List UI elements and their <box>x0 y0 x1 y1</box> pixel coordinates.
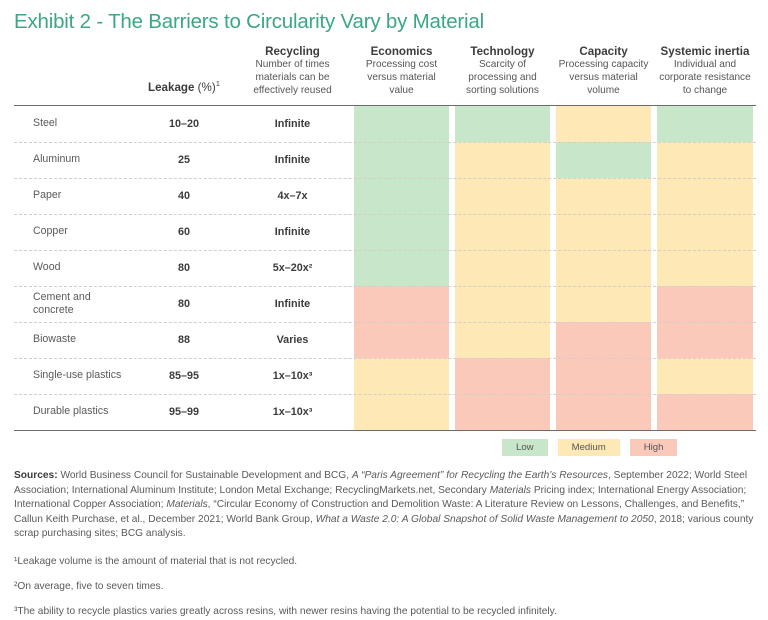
table-row: Steel10–20Infinite <box>14 106 756 142</box>
header-material <box>14 98 134 105</box>
cell-heat-inertia <box>654 286 756 322</box>
cell-leakage: 60 <box>134 214 234 250</box>
exhibit-table: Leakage (%)1 Recycling Number of times m… <box>14 45 756 457</box>
cell-heat-capacity <box>553 358 654 394</box>
cell-heat-capacity <box>553 250 654 286</box>
source-title: What a Waste 2.0: A Global Snapshot of S… <box>316 514 654 525</box>
header-systemic-inertia: Systemic inertia Individual and corporat… <box>654 45 756 105</box>
header-technology-title: Technology <box>456 45 549 59</box>
cell-heat-capacity <box>553 322 654 358</box>
cell-leakage: 80 <box>134 286 234 322</box>
table-row: Biowaste88Varies <box>14 322 756 358</box>
cell-material: Biowaste <box>14 322 134 358</box>
cell-leakage: 88 <box>134 322 234 358</box>
cell-recycling: Infinite <box>234 106 351 142</box>
cell-heat-technology <box>452 322 553 358</box>
header-leakage-label: Leakage (%)1 <box>148 81 220 94</box>
cell-heat-technology <box>452 358 553 394</box>
cell-recycling: Infinite <box>234 286 351 322</box>
cell-heat-economics <box>351 250 452 286</box>
cell-heat-technology <box>452 286 553 322</box>
cell-material: Steel <box>14 106 134 142</box>
header-technology-subtitle: Scarcity of processing and sorting solut… <box>456 59 549 97</box>
cell-leakage: 85–95 <box>134 358 234 394</box>
table-row: Wood805x–20x² <box>14 250 756 286</box>
cell-heat-economics <box>351 394 452 430</box>
sources-block: Sources: World Business Council for Sust… <box>14 469 762 541</box>
cell-heat-inertia <box>654 250 756 286</box>
cell-leakage: 95–99 <box>134 394 234 430</box>
header-economics: Economics Processing cost versus materia… <box>351 45 452 105</box>
cell-heat-economics <box>351 106 452 142</box>
page-title: Exhibit 2 - The Barriers to Circularity … <box>12 0 756 35</box>
cell-heat-inertia <box>654 394 756 430</box>
exhibit-page: Exhibit 2 - The Barriers to Circularity … <box>0 0 768 605</box>
cell-heat-capacity <box>553 106 654 142</box>
cell-recycling: Infinite <box>234 214 351 250</box>
sources-text: World Business Council for Sustainable D… <box>14 470 753 539</box>
cell-heat-economics <box>351 286 452 322</box>
cell-heat-inertia <box>654 106 756 142</box>
table-row: Paper404x–7x <box>14 178 756 214</box>
footnote: ²On average, five to seven times. <box>14 580 756 594</box>
header-systemic-inertia-title: Systemic inertia <box>658 45 752 59</box>
cell-heat-capacity <box>553 214 654 250</box>
cell-leakage: 40 <box>134 178 234 214</box>
table-row: Cement and concrete80Infinite <box>14 286 756 322</box>
header-capacity-subtitle: Processing capacity versus material volu… <box>557 59 650 97</box>
cell-material: Cement and concrete <box>14 286 134 322</box>
cell-heat-economics <box>351 142 452 178</box>
sources-label: Sources: <box>14 470 58 481</box>
cell-heat-inertia <box>654 322 756 358</box>
table-row: Durable plastics95–991x–10x³ <box>14 394 756 430</box>
cell-heat-technology <box>452 250 553 286</box>
cell-recycling: 1x–10x³ <box>234 358 351 394</box>
cell-heat-inertia <box>654 178 756 214</box>
cell-heat-economics <box>351 214 452 250</box>
legend-item-high: High <box>630 439 678 457</box>
table-row: Single-use plastics85–951x–10x³ <box>14 358 756 394</box>
cell-recycling: 4x–7x <box>234 178 351 214</box>
cell-recycling: Infinite <box>234 142 351 178</box>
header-recycling-subtitle: Number of times materials can be effecti… <box>238 59 347 97</box>
table-body: Steel10–20InfiniteAluminum25InfinitePape… <box>14 106 756 430</box>
cell-heat-inertia <box>654 358 756 394</box>
cell-heat-capacity <box>553 286 654 322</box>
cell-heat-economics <box>351 358 452 394</box>
source-title: A “Paris Agreement” for Recycling the Ea… <box>352 470 608 481</box>
cell-heat-technology <box>452 394 553 430</box>
header-capacity: Capacity Processing capacity versus mate… <box>553 45 654 105</box>
cell-heat-technology <box>452 106 553 142</box>
footnotes-block: ¹Leakage volume is the amount of materia… <box>14 555 756 620</box>
table-bottom-rule <box>14 430 756 431</box>
cell-heat-economics <box>351 178 452 214</box>
header-recycling-title: Recycling <box>238 45 347 59</box>
footnote: ³The ability to recycle plastics varies … <box>14 605 756 619</box>
header-capacity-title: Capacity <box>557 45 650 59</box>
cell-heat-capacity <box>553 394 654 430</box>
footnote: ¹Leakage volume is the amount of materia… <box>14 555 756 569</box>
legend: LowMediumHigh <box>16 439 756 457</box>
cell-heat-economics <box>351 322 452 358</box>
source-title: Materials <box>490 485 531 496</box>
cell-recycling: 5x–20x² <box>234 250 351 286</box>
cell-leakage: 80 <box>134 250 234 286</box>
cell-heat-technology <box>452 214 553 250</box>
cell-material: Copper <box>14 214 134 250</box>
table-row: Copper60Infinite <box>14 214 756 250</box>
cell-material: Aluminum <box>14 142 134 178</box>
cell-material: Paper <box>14 178 134 214</box>
cell-leakage: 25 <box>134 142 234 178</box>
cell-heat-capacity <box>553 142 654 178</box>
cell-recycling: Varies <box>234 322 351 358</box>
header-systemic-inertia-subtitle: Individual and corporate resistance to c… <box>658 59 752 97</box>
cell-heat-technology <box>452 142 553 178</box>
header-recycling: Recycling Number of times materials can … <box>234 45 351 105</box>
header-economics-title: Economics <box>355 45 448 59</box>
cell-heat-capacity <box>553 178 654 214</box>
cell-heat-inertia <box>654 214 756 250</box>
cell-material: Wood <box>14 250 134 286</box>
cell-heat-inertia <box>654 142 756 178</box>
table-row: Aluminum25Infinite <box>14 142 756 178</box>
cell-material: Durable plastics <box>14 394 134 430</box>
header-economics-subtitle: Processing cost versus material value <box>355 59 448 97</box>
header-leakage: Leakage (%)1 <box>134 78 234 105</box>
header-technology: Technology Scarcity of processing and so… <box>452 45 553 105</box>
cell-material: Single-use plastics <box>14 358 134 394</box>
table-header: Leakage (%)1 Recycling Number of times m… <box>14 45 756 105</box>
cell-recycling: 1x–10x³ <box>234 394 351 430</box>
cell-heat-technology <box>452 178 553 214</box>
legend-item-low: Low <box>502 439 548 457</box>
source-title: Materials <box>166 499 207 510</box>
cell-leakage: 10–20 <box>134 106 234 142</box>
legend-item-medium: Medium <box>558 439 620 457</box>
footnote-marker: 1 <box>216 79 220 88</box>
